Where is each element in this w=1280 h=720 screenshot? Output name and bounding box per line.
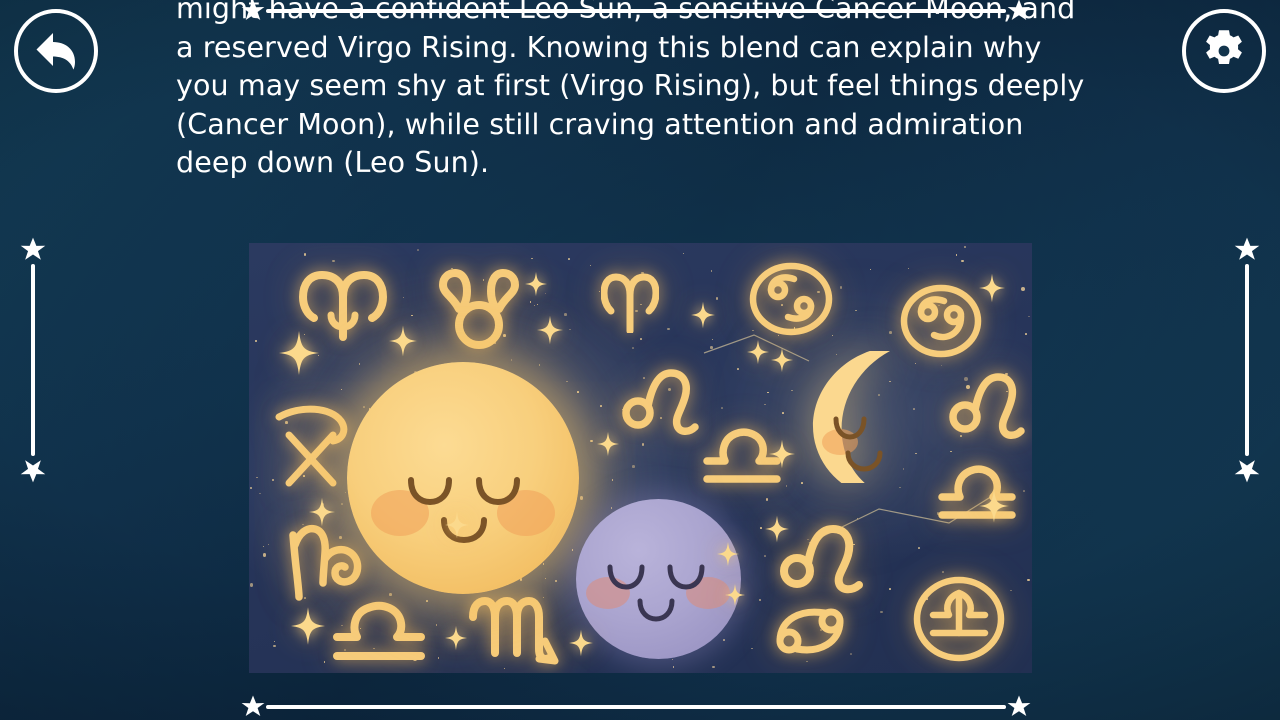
sparkle-icon bbox=[537, 315, 563, 345]
sparkle-icon bbox=[769, 439, 795, 469]
zodiac-illustration bbox=[249, 243, 1032, 673]
lesson-body-text: might have a confident Leo Sun, a sensit… bbox=[176, 0, 1096, 183]
glyph-pisces-icon bbox=[271, 401, 351, 489]
star-icon bbox=[19, 236, 47, 264]
sparkle-icon bbox=[445, 625, 467, 651]
sparkle-icon bbox=[597, 431, 619, 457]
glyph-libra-circled-icon bbox=[911, 573, 1007, 665]
back-arrow-icon bbox=[32, 29, 80, 73]
glyph-leo-icon bbox=[949, 369, 1027, 441]
sparkle-icon bbox=[569, 629, 593, 657]
planet-face-icon bbox=[604, 561, 712, 623]
decoration-rule bbox=[1245, 264, 1249, 456]
back-button[interactable] bbox=[14, 9, 98, 93]
glyph-cancer-icon bbox=[773, 599, 855, 661]
glyph-cancer-icon bbox=[749, 261, 833, 337]
sparkle-icon bbox=[445, 511, 469, 539]
sparkle-icon bbox=[979, 273, 1005, 303]
sparkle-icon bbox=[979, 489, 1009, 523]
sparkle-icon bbox=[771, 347, 793, 373]
sparkle-icon bbox=[309, 497, 335, 527]
sparkle-icon bbox=[725, 583, 745, 607]
glyph-leo-icon bbox=[779, 521, 865, 595]
moon-face-icon bbox=[830, 413, 902, 469]
sparkle-icon bbox=[691, 301, 715, 329]
sparkle-icon bbox=[717, 541, 739, 567]
star-icon bbox=[19, 456, 47, 484]
decoration-rule bbox=[31, 264, 35, 456]
glyph-cancer-icon bbox=[899, 283, 983, 359]
decoration-left bbox=[18, 236, 48, 484]
decoration-rule bbox=[266, 705, 1006, 709]
sparkle-icon bbox=[279, 331, 319, 375]
sparkle-icon bbox=[389, 325, 417, 357]
glyph-libra-icon bbox=[331, 601, 427, 665]
star-icon bbox=[1233, 236, 1261, 264]
sun-illustration bbox=[347, 362, 579, 594]
decoration-bottom bbox=[240, 692, 1032, 720]
star-icon bbox=[1006, 694, 1032, 720]
glyph-capricorn-icon bbox=[285, 519, 369, 603]
star-icon bbox=[240, 694, 266, 720]
settings-button[interactable] bbox=[1182, 9, 1266, 93]
sparkle-icon bbox=[525, 271, 547, 297]
gear-icon bbox=[1200, 27, 1248, 75]
star-icon bbox=[1233, 456, 1261, 484]
sparkle-icon bbox=[291, 607, 325, 645]
sparkle-icon bbox=[747, 339, 769, 365]
sparkle-icon bbox=[765, 515, 789, 543]
moon-illustration bbox=[794, 351, 926, 483]
glyph-scorpio-icon bbox=[467, 591, 559, 669]
decoration-right bbox=[1232, 236, 1262, 484]
glyph-leo-icon bbox=[621, 365, 701, 437]
glyph-taurus-icon bbox=[433, 269, 525, 349]
glyph-aries-icon bbox=[601, 273, 659, 333]
planet-illustration bbox=[576, 499, 741, 659]
